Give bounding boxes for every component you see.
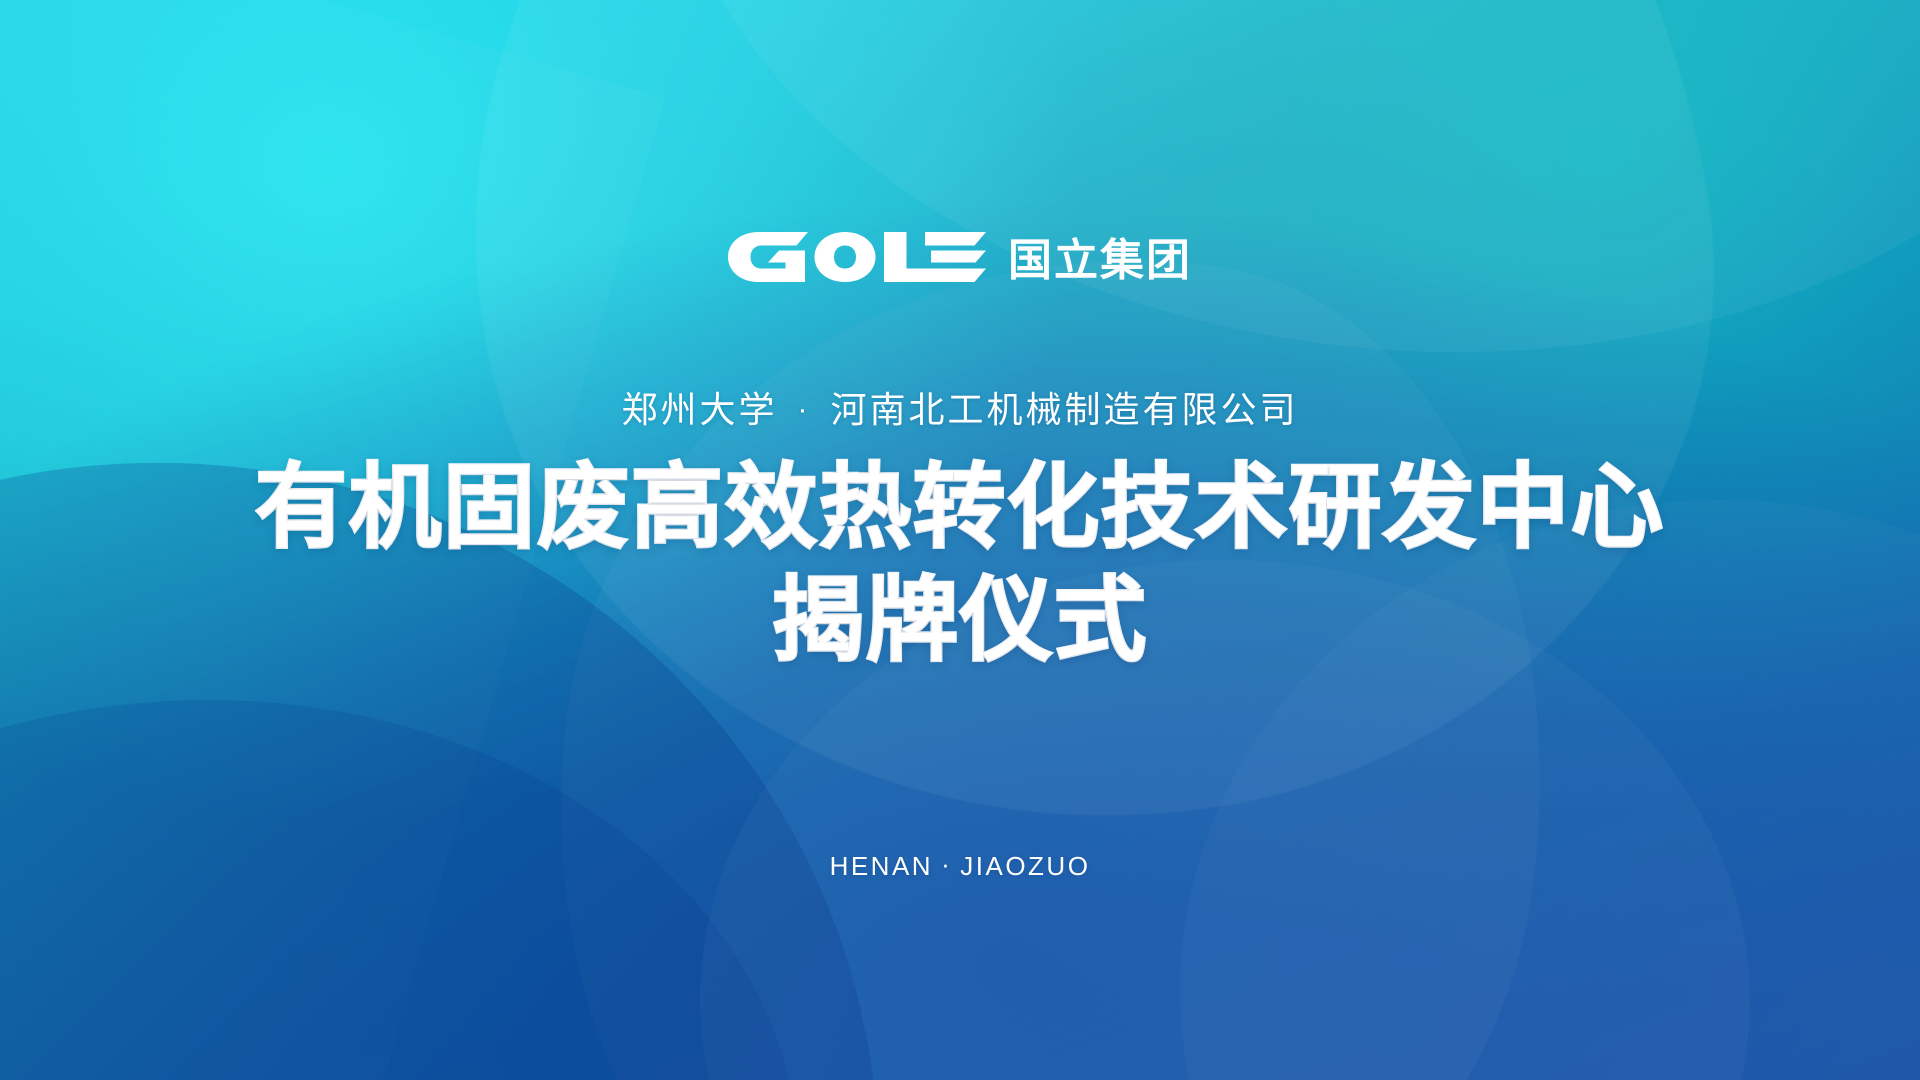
- title-line-1: 有机固废高效热转化技术研发中心: [0, 452, 1920, 565]
- subtitle-left: 郑州大学: [621, 389, 777, 430]
- footer-right: JIAOZUO: [960, 851, 1090, 881]
- title-line-2: 揭牌仪式: [0, 565, 1920, 678]
- brand-logo-lockup: 国立集团: [0, 232, 1920, 287]
- footer-left: HENAN: [830, 851, 934, 881]
- subtitle-line: 郑州大学·河南北工机械制造有限公司: [0, 381, 1920, 433]
- subtitle-right: 河南北工机械制造有限公司: [831, 389, 1299, 430]
- page-title: 有机固废高效热转化技术研发中心 揭牌仪式: [0, 452, 1920, 678]
- footer-separator-dot: ·: [933, 849, 960, 880]
- brand-logo-chinese-name: 国立集团: [1008, 239, 1192, 283]
- slide-content: 国立集团 郑州大学·河南北工机械制造有限公司 有机固废高效热转化技术研发中心 揭…: [0, 0, 1920, 1080]
- presentation-cover-slide: 国立集团 郑州大学·河南北工机械制造有限公司 有机固废高效热转化技术研发中心 揭…: [0, 0, 1920, 1080]
- gole-wordmark-logo: [728, 232, 986, 287]
- subtitle-separator-dot: ·: [778, 393, 831, 427]
- footer-location: HENAN·JIAOZUO: [0, 851, 1920, 882]
